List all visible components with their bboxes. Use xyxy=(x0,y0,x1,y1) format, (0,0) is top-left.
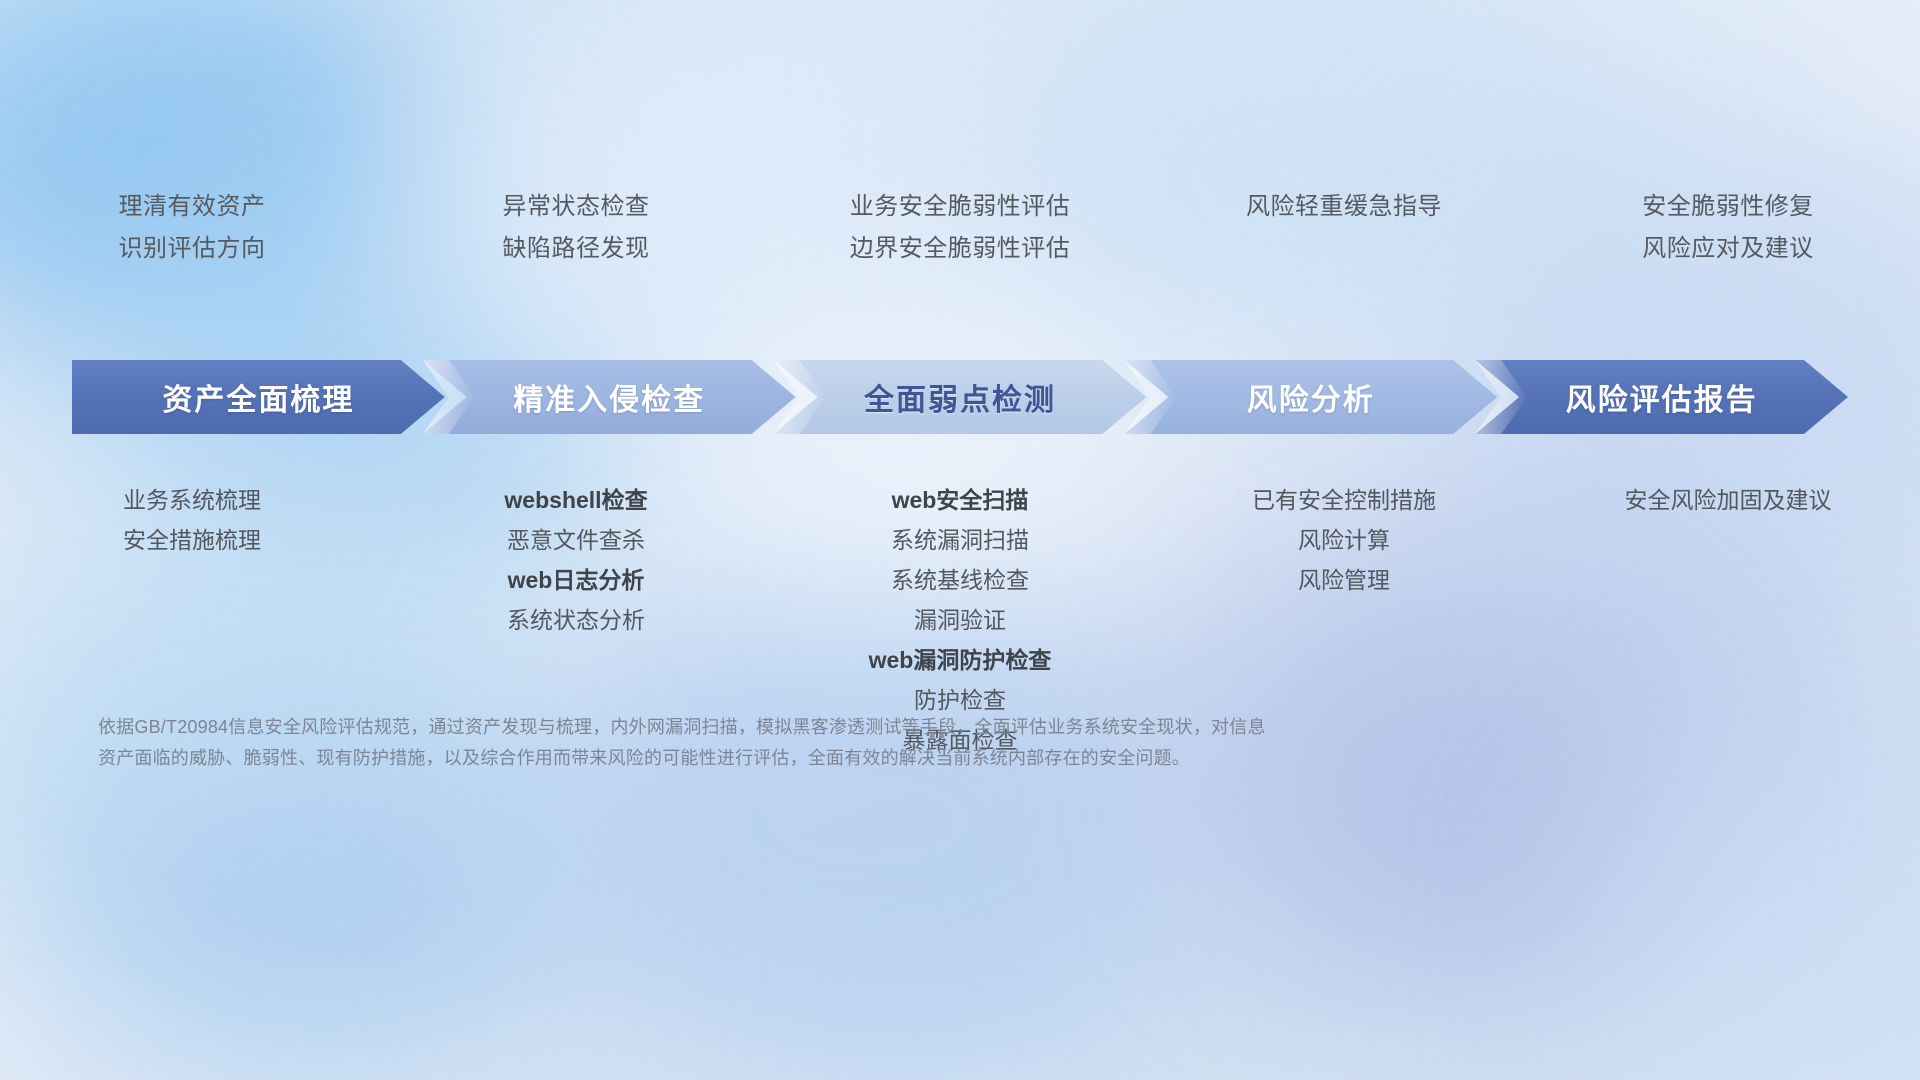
top-description-row: 理清有效资产 识别评估方向 异常状态检查 缺陷路径发现 业务安全脆弱性评估 边界… xyxy=(0,186,1920,286)
list-item: 恶意文件查杀 xyxy=(384,520,768,560)
bottom-list-column-2: webshell检查 恶意文件查杀 web日志分析 系统状态分析 xyxy=(384,480,768,640)
process-diagram: 理清有效资产 识别评估方向 异常状态检查 缺陷路径发现 业务安全脆弱性评估 边界… xyxy=(0,0,1920,1080)
bottom-list-column-1: 业务系统梳理 安全措施梳理 xyxy=(0,480,384,560)
footer-description: 依据GB/T20984信息安全风险评估规范，通过资产发现与梳理，内外网漏洞扫描，… xyxy=(98,712,1658,774)
stage-label: 风险分析 xyxy=(1247,375,1375,419)
top-description-column-3: 业务安全脆弱性评估 边界安全脆弱性评估 xyxy=(768,186,1152,286)
bottom-list-column-4: 已有安全控制措施 风险计算 风险管理 xyxy=(1152,480,1536,600)
stage-arrow-weakness-detection[interactable]: 全面弱点检测 xyxy=(774,360,1147,434)
list-item: webshell检查 xyxy=(384,480,768,520)
stage-label: 风险评估报告 xyxy=(1566,375,1758,419)
list-item: 业务系统梳理 xyxy=(0,480,384,520)
list-item: 漏洞验证 xyxy=(768,600,1152,640)
top-description-line: 识别评估方向 xyxy=(0,228,384,270)
stage-label: 全面弱点检测 xyxy=(864,375,1056,419)
top-description-line: 风险轻重缓急指导 xyxy=(1152,186,1536,228)
stage-label: 资产全面梳理 xyxy=(162,375,354,419)
top-description-line: 缺陷路径发现 xyxy=(384,228,768,270)
footer-line-1: 依据GB/T20984信息安全风险评估规范，通过资产发现与梳理，内外网漏洞扫描，… xyxy=(98,712,1658,743)
list-item: 已有安全控制措施 xyxy=(1152,480,1536,520)
list-item: 系统基线检查 xyxy=(768,560,1152,600)
top-description-line: 边界安全脆弱性评估 xyxy=(768,228,1152,270)
list-item: web日志分析 xyxy=(384,560,768,600)
top-description-line: 业务安全脆弱性评估 xyxy=(768,186,1152,228)
list-item: 系统漏洞扫描 xyxy=(768,520,1152,560)
list-item: 风险管理 xyxy=(1152,560,1536,600)
top-description-line: 异常状态检查 xyxy=(384,186,768,228)
top-description-column-5: 安全脆弱性修复 风险应对及建议 xyxy=(1536,186,1920,286)
list-item: 安全风险加固及建议 xyxy=(1536,480,1920,520)
top-description-column-1: 理清有效资产 识别评估方向 xyxy=(0,186,384,286)
top-description-line: 风险应对及建议 xyxy=(1536,228,1920,270)
stage-arrow-asset-inventory[interactable]: 资产全面梳理 xyxy=(72,360,445,434)
list-item: 安全措施梳理 xyxy=(0,520,384,560)
bottom-list-column-5: 安全风险加固及建议 xyxy=(1536,480,1920,520)
stage-label: 精准入侵检查 xyxy=(513,375,705,419)
stage-arrow-intrusion-check[interactable]: 精准入侵检查 xyxy=(423,360,796,434)
list-item: web安全扫描 xyxy=(768,480,1152,520)
top-description-line: 理清有效资产 xyxy=(0,186,384,228)
list-item: 风险计算 xyxy=(1152,520,1536,560)
top-description-column-2: 异常状态检查 缺陷路径发现 xyxy=(384,186,768,286)
stage-arrow-risk-analysis[interactable]: 风险分析 xyxy=(1124,360,1497,434)
list-item: 系统状态分析 xyxy=(384,600,768,640)
top-description-line: 安全脆弱性修复 xyxy=(1536,186,1920,228)
stage-arrow-banner: 资产全面梳理 精准入侵检查 全面弱点检测 风险分析 风险评估报告 xyxy=(72,360,1848,434)
top-description-column-4: 风险轻重缓急指导 xyxy=(1152,186,1536,286)
footer-line-2: 资产面临的威胁、脆弱性、现有防护措施，以及综合作用而带来风险的可能性进行评估，全… xyxy=(98,743,1658,774)
list-item: web漏洞防护检查 xyxy=(768,640,1152,680)
stage-arrow-risk-report[interactable]: 风险评估报告 xyxy=(1475,360,1848,434)
